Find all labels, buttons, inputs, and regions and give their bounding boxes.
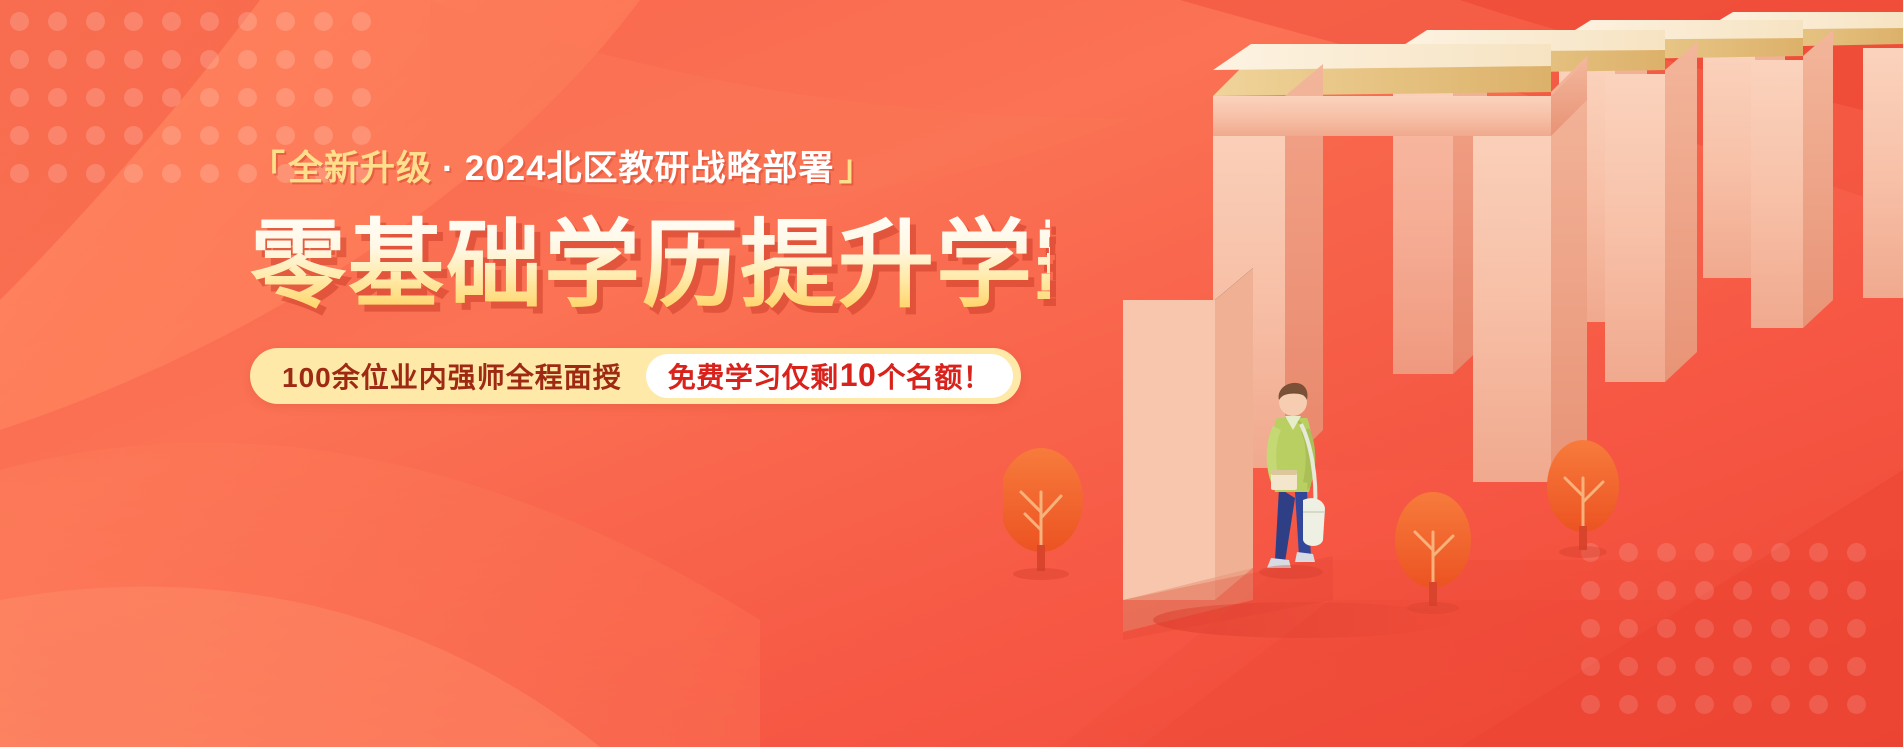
pill-right-suffix: 个名额！ (877, 356, 991, 396)
arches-and-student-svg (1003, 0, 1903, 747)
decorative-dot (162, 50, 181, 69)
decorative-dot (86, 164, 105, 183)
decorative-dot (124, 12, 143, 31)
bracket-right: 」 (839, 151, 875, 186)
decorative-dot (276, 12, 295, 31)
tree-left (1003, 448, 1083, 580)
decorative-dot (10, 88, 29, 107)
tree-right (1547, 440, 1619, 558)
decorative-dot (86, 50, 105, 69)
decorative-dot (48, 50, 67, 69)
decorative-dot (314, 50, 333, 69)
decorative-dot (238, 126, 257, 145)
decorative-dot (48, 164, 67, 183)
decorative-dot (162, 164, 181, 183)
decorative-dot (276, 126, 295, 145)
decorative-dot (238, 12, 257, 31)
eyebrow-separator: · (432, 151, 465, 186)
promo-banner: 「 全新升级 · 2024北区教研战略部署 」 零基础学历提升学霸班 100余位… (0, 0, 1903, 747)
decorative-dot (352, 50, 371, 69)
decorative-dot (162, 12, 181, 31)
pill-right-prefix: 免费学习仅剩 (668, 356, 839, 396)
decorative-dot (86, 88, 105, 107)
eyebrow-gold-text: 全新升级 (288, 151, 432, 186)
decorative-dot (48, 126, 67, 145)
tree-middle (1395, 492, 1471, 614)
decorative-dot (10, 50, 29, 69)
decorative-dot (10, 12, 29, 31)
decorative-dot (314, 88, 333, 107)
decorative-dot (162, 126, 181, 145)
decorative-dot (352, 12, 371, 31)
decorative-dot (162, 88, 181, 107)
highlight-pill: 100余位业内强师全程面授 免费学习仅剩 10 个名额！ (250, 348, 1021, 404)
decorative-dot (10, 164, 29, 183)
bracket-left: 「 (250, 151, 286, 186)
decorative-dot (200, 88, 219, 107)
decorative-dot (48, 12, 67, 31)
decorative-dot (200, 12, 219, 31)
decorative-dot (238, 88, 257, 107)
arch-1-main (1213, 44, 1587, 482)
decorative-dot (10, 126, 29, 145)
decorative-dot (86, 12, 105, 31)
decorative-dot (200, 164, 219, 183)
decorative-dot (124, 126, 143, 145)
decorative-dot (276, 88, 295, 107)
decorative-dot (48, 88, 67, 107)
decorative-dot (314, 126, 333, 145)
decorative-dot (352, 126, 371, 145)
decorative-dot (124, 50, 143, 69)
pill-right-badge: 免费学习仅剩 10 个名额！ (646, 354, 1014, 398)
page-title: 零基础学历提升学霸班 (250, 214, 1050, 318)
decorative-dot (200, 50, 219, 69)
education-illustration (1003, 0, 1903, 747)
eyebrow-white-text: 2024北区教研战略部署 (465, 151, 835, 186)
decorative-dot (124, 164, 143, 183)
banner-copy: 「 全新升级 · 2024北区教研战略部署 」 零基础学历提升学霸班 100余位… (250, 146, 1050, 404)
eyebrow-line: 「 全新升级 · 2024北区教研战略部署 」 (250, 146, 1050, 190)
decorative-dot (352, 88, 371, 107)
pill-left-label: 100余位业内强师全程面授 (282, 356, 646, 396)
decorative-dot (314, 12, 333, 31)
decorative-dot (86, 126, 105, 145)
decorative-dot (238, 50, 257, 69)
decorative-dot (200, 126, 219, 145)
decorative-dot (276, 50, 295, 69)
decorative-dot (124, 88, 143, 107)
pill-right-number: 10 (839, 357, 878, 394)
